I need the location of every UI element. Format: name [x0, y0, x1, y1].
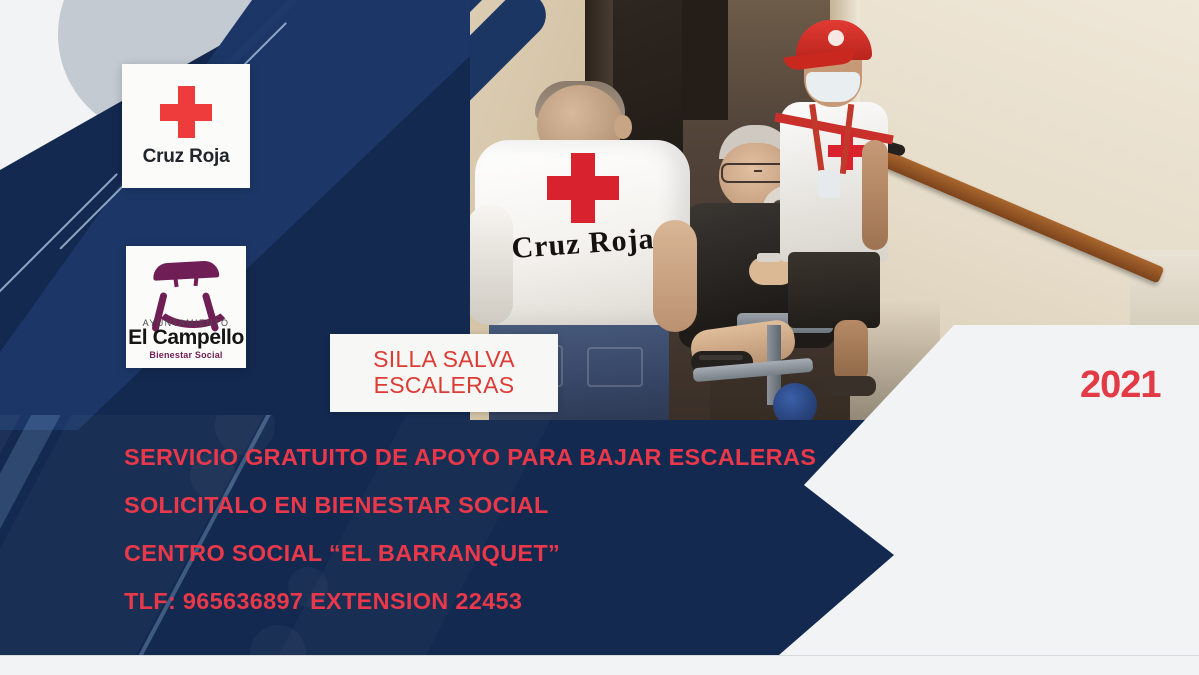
headline-line-2: SOLICITALO EN BIENESTAR SOCIAL — [124, 492, 984, 519]
logo-el-campello[interactable]: AYUNTAMIENTO El Campello Bienestar Socia… — [126, 246, 246, 368]
volunteer-front-arm-right — [653, 220, 697, 332]
volunteer-back-shorts — [788, 252, 880, 328]
cruz-roja-label: Cruz Roja — [122, 146, 250, 168]
volunteer-back-leg — [834, 320, 868, 382]
logo-cruz-roja[interactable]: Cruz Roja — [122, 64, 250, 188]
jeans-pocket-right — [587, 347, 643, 387]
headline-line-3: CENTRO SOCIAL “EL BARRANQUET” — [124, 540, 984, 567]
caption-line-2: ESCALERAS — [374, 372, 515, 398]
bottom-white-strip — [0, 655, 1199, 675]
photo-volunteer-back — [778, 20, 888, 380]
id-badge — [818, 170, 840, 198]
volunteer-back-arm — [862, 140, 888, 250]
campello-name-label: El Campello — [126, 326, 246, 350]
caption-text: SILLA SALVA ESCALERAS — [373, 347, 515, 399]
headline-block: SERVICIO GRATUITO DE APOYO PARA BAJAR ES… — [124, 444, 984, 636]
year-label: 2021 — [1080, 364, 1161, 407]
arch-body — [149, 274, 223, 318]
caption-line-1: SILLA SALVA — [373, 346, 515, 372]
campello-department-label: Bienestar Social — [126, 350, 246, 360]
red-cross-icon — [547, 153, 619, 223]
cap-emblem — [828, 30, 844, 46]
volunteer-front-arm-left — [467, 205, 513, 325]
headline-line-4: TLF: 965636897 EXTENSION 22453 — [124, 588, 984, 615]
face-mask-icon — [806, 72, 860, 102]
red-cross-icon — [160, 86, 212, 138]
el-campello-arch-icon — [126, 258, 246, 318]
caption-box: SILLA SALVA ESCALERAS — [330, 334, 558, 412]
bottom-divider-line — [0, 655, 1199, 656]
volunteer-back-shoe — [824, 376, 876, 396]
volunteer-front-ear — [614, 115, 632, 139]
headline-line-1: SERVICIO GRATUITO DE APOYO PARA BAJAR ES… — [124, 444, 984, 471]
poster-root: Cruz Roja Cruz Roja — [0, 0, 1199, 675]
